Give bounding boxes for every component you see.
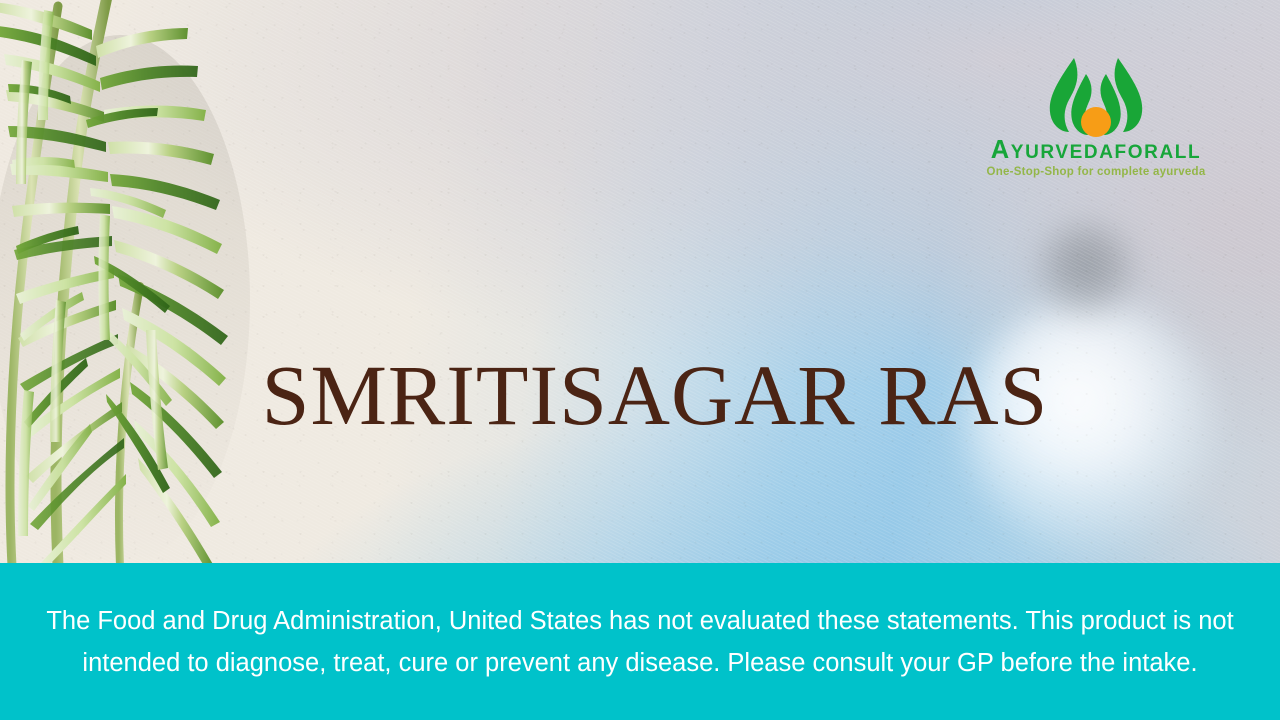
brand-tagline: One-Stop-Shop for complete ayurveda <box>960 166 1232 178</box>
brand-wordmark-rest: YURVEDAFORALL <box>1011 142 1201 163</box>
page-title: SMRITISAGAR RAS <box>0 352 1280 438</box>
product-banner-slide: AYURVEDAFORALL One-Stop-Shop for complet… <box>0 0 1280 720</box>
blurred-jar-cap <box>1032 222 1140 318</box>
brand-wordmark: AYURVEDAFORALL <box>960 138 1232 164</box>
brand-logo[interactable]: AYURVEDAFORALL One-Stop-Shop for complet… <box>960 52 1232 184</box>
flame-leaf-icon <box>1038 52 1154 138</box>
rosemary-sprigs-image <box>0 0 300 566</box>
disclaimer-text: The Food and Drug Administration, United… <box>40 600 1240 684</box>
disclaimer-banner: The Food and Drug Administration, United… <box>0 563 1280 720</box>
